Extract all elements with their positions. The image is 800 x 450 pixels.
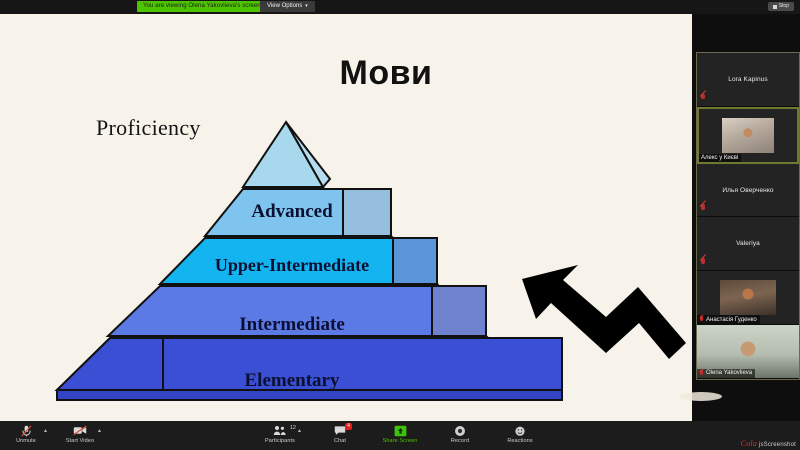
stop-share-button[interactable]: Stop [768, 2, 794, 11]
pyramid-label-elementary: Elementary [245, 370, 340, 391]
microphone-muted-icon [21, 424, 32, 437]
shared-screen-content: Мови Proficiency [0, 14, 692, 421]
unmute-label: Unmute [16, 438, 36, 444]
toolbar-center-group: 12 Participants ▲ 4 Chat [260, 424, 540, 444]
participant-tile[interactable]: Valeriya [697, 217, 799, 271]
participants-options-chevron-icon[interactable]: ▲ [297, 428, 302, 434]
view-options-button[interactable]: View Options▾ [260, 1, 315, 12]
participants-label: Participants [265, 438, 295, 444]
unmute-button[interactable]: Unmute ▲ [6, 424, 46, 444]
microphone-muted-icon [699, 370, 704, 377]
stop-square-icon [773, 5, 777, 9]
watermark-brand: Cola [741, 439, 757, 448]
microphone-muted-icon [700, 94, 706, 102]
start-video-button[interactable]: Start Video ▲ [60, 424, 100, 444]
participant-tile[interactable]: Алекс у Києві [697, 107, 799, 164]
proficiency-pyramid-diagram: Elementary Intermediate Upper-Intermedia… [0, 14, 692, 421]
record-icon [454, 424, 466, 437]
share-screen-label: Share Screen [383, 438, 418, 444]
audio-options-chevron-icon[interactable]: ▲ [43, 428, 48, 434]
meeting-toolbar: Unmute ▲ Start Video ▲ [0, 421, 800, 450]
participant-name: Алекс у Києві [701, 155, 738, 161]
participant-name: Анастасія Гуденко [706, 317, 757, 323]
screen-share-banner: You are viewing Olena Yakovlieva's scree… [137, 1, 267, 12]
participants-video-strip: Lora Kapinus Алекс у Києві Илья Оверченк… [696, 52, 800, 380]
participant-tile[interactable]: Илья Оверченко [697, 164, 799, 218]
reactions-icon [514, 424, 526, 437]
participant-tile[interactable]: Анастасія Гуденко [697, 271, 799, 325]
participant-namebar: Olena Yakovlieva [697, 369, 755, 378]
video-muted-icon [73, 424, 87, 437]
watermark-text: jsScreenshot [759, 442, 796, 448]
record-button[interactable]: Record [440, 424, 480, 444]
top-bar: You are viewing Olena Yakovlieva's scree… [0, 0, 800, 14]
video-options-chevron-icon[interactable]: ▲ [97, 428, 102, 434]
view-options-label: View Options [267, 3, 302, 9]
toolbar-left-group: Unmute ▲ Start Video ▲ [6, 424, 100, 444]
screenshot-watermark: Cola jsScreenshot [741, 439, 796, 448]
participants-icon [273, 424, 288, 437]
participant-namebar: Алекс у Києві [699, 154, 741, 162]
participant-tile[interactable]: Olena Yakovlieva [697, 325, 799, 379]
participant-name: Lora Kapinus [728, 76, 768, 83]
zoom-meeting-window: You are viewing Olena Yakovlieva's scree… [0, 0, 800, 450]
participant-name: Olena Yakovlieva [706, 370, 752, 376]
record-label: Record [451, 438, 469, 444]
microphone-muted-icon [699, 316, 704, 323]
decorative-blob [680, 392, 722, 401]
stop-label: Stop [779, 2, 789, 11]
share-screen-icon [394, 424, 407, 437]
chat-unread-badge: 4 [345, 423, 352, 430]
pyramid-level-apex [243, 122, 330, 187]
participant-video [720, 280, 775, 315]
reactions-label: Reactions [507, 438, 532, 444]
pyramid-label-advanced: Advanced [251, 201, 333, 222]
chat-button[interactable]: 4 Chat [320, 424, 360, 444]
participant-name: Valeriya [736, 240, 760, 247]
participant-namebar: Анастасія Гуденко [697, 315, 760, 324]
participants-button[interactable]: 12 Participants ▲ [260, 424, 300, 444]
chevron-down-icon: ▾ [305, 3, 308, 9]
chat-label: Chat [334, 438, 346, 444]
participant-name: Илья Оверченко [722, 187, 773, 194]
share-screen-button[interactable]: Share Screen [380, 424, 420, 444]
start-video-label: Start Video [66, 438, 94, 444]
participants-count: 12 [290, 425, 296, 431]
participant-video [722, 118, 775, 153]
pyramid-label-intermediate: Intermediate [239, 314, 345, 335]
participant-tile[interactable]: Lora Kapinus [697, 53, 799, 107]
reactions-button[interactable]: Reactions [500, 424, 540, 444]
microphone-muted-icon [700, 204, 706, 212]
pyramid-label-upper-intermediate: Upper-Intermediate [215, 255, 369, 275]
microphone-muted-icon [700, 258, 706, 266]
